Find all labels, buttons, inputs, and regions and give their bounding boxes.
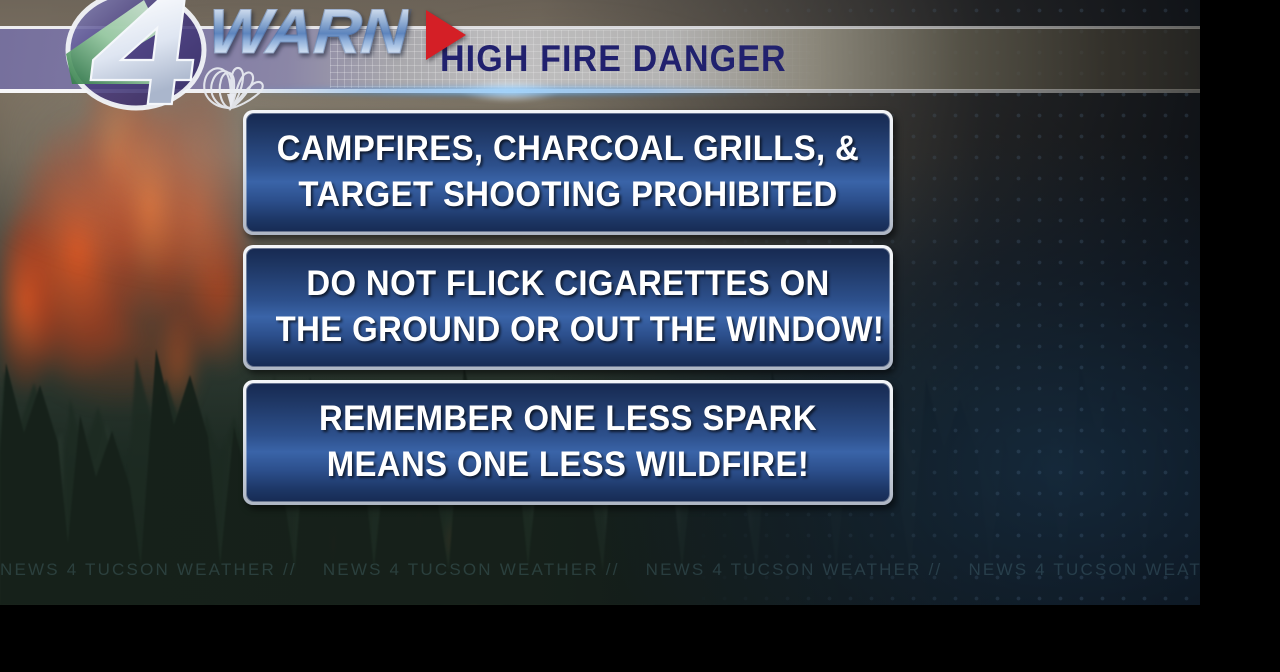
letterbox-bar-right	[1200, 0, 1280, 672]
message-3-line-1: REMEMBER ONE LESS SPARK	[276, 396, 861, 442]
message-box-2-inner: DO NOT FLICK CIGARETTES ON THE GROUND OR…	[246, 248, 890, 367]
red-arrow-icon	[426, 10, 466, 60]
message-1-line-2: TARGET SHOOTING PROHIBITED	[276, 172, 861, 218]
video-content-area: HIGH FIRE DANGER	[0, 0, 1200, 605]
message-box-3[interactable]: REMEMBER ONE LESS SPARK MEANS ONE LESS W…	[243, 380, 893, 505]
message-box-1-inner: CAMPFIRES, CHARCOAL GRILLS, & TARGET SHO…	[246, 113, 890, 232]
message-box-3-inner: REMEMBER ONE LESS SPARK MEANS ONE LESS W…	[246, 383, 890, 502]
message-2-line-1: DO NOT FLICK CIGARETTES ON	[276, 261, 861, 307]
message-box-1[interactable]: CAMPFIRES, CHARCOAL GRILLS, & TARGET SHO…	[243, 110, 893, 235]
ticker-text-1: NEWS 4 TUCSON WEATHER //	[0, 560, 323, 580]
message-box-2[interactable]: DO NOT FLICK CIGARETTES ON THE GROUND OR…	[243, 245, 893, 370]
ticker-text-4: NEWS 4 TUCSON WEATHER //	[968, 560, 1200, 580]
ticker-text-2: NEWS 4 TUCSON WEATHER //	[323, 560, 646, 580]
ticker-text-3: NEWS 4 TUCSON WEATHER //	[646, 560, 969, 580]
letterbox-bar-bottom	[0, 605, 1280, 672]
message-1-line-1: CAMPFIRES, CHARCOAL GRILLS, &	[276, 126, 861, 172]
station-logo: WARN	[48, 0, 468, 118]
page-title: HIGH FIRE DANGER	[440, 28, 787, 90]
message-2-line-2: THE GROUND OR OUT THE WINDOW!	[276, 307, 861, 353]
nbc-peacock-icon	[183, 50, 279, 112]
broadcast-graphic-screen: HIGH FIRE DANGER	[0, 0, 1280, 672]
ticker-watermark: NEWS 4 TUCSON WEATHER // NEWS 4 TUCSON W…	[0, 558, 1200, 582]
message-list: CAMPFIRES, CHARCOAL GRILLS, & TARGET SHO…	[243, 110, 893, 515]
message-3-line-2: MEANS ONE LESS WILDFIRE!	[276, 442, 861, 488]
